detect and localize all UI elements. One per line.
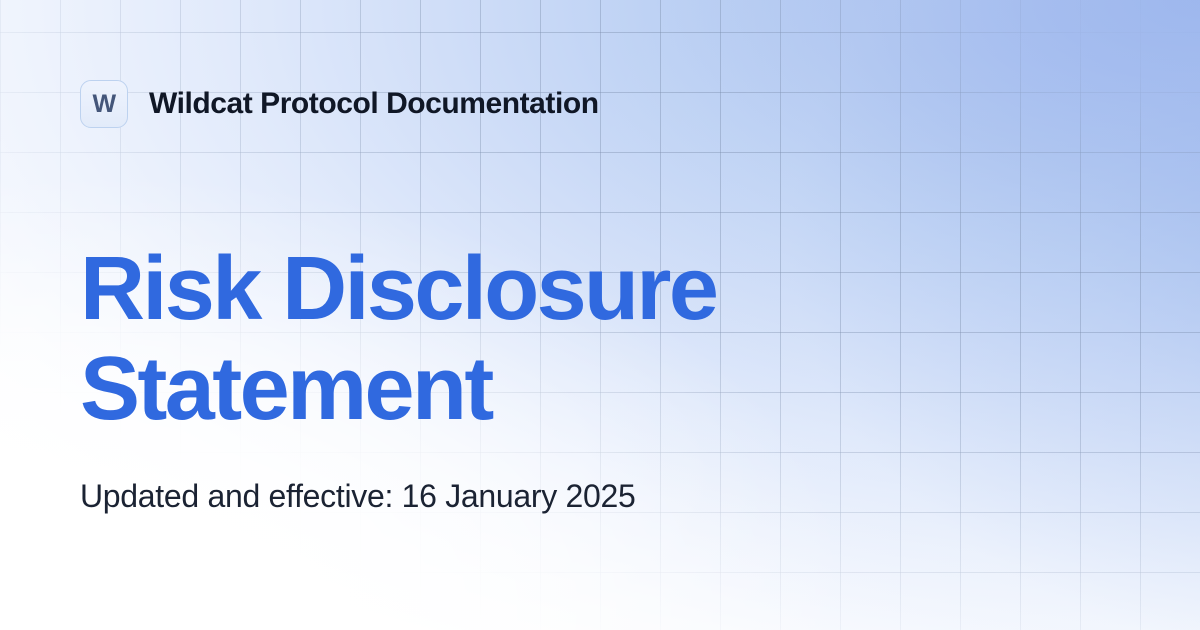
- card-content: W Wildcat Protocol Documentation Risk Di…: [0, 0, 1200, 630]
- brand-header: W Wildcat Protocol Documentation: [80, 80, 1120, 128]
- headline-block: Risk Disclosure Statement Updated and ef…: [80, 239, 1120, 515]
- page-title: Risk Disclosure Statement: [80, 239, 840, 439]
- effective-date-text: Updated and effective: 16 January 2025: [80, 477, 1120, 515]
- og-card: W Wildcat Protocol Documentation Risk Di…: [0, 0, 1200, 630]
- wildcat-logo-icon: W: [80, 80, 128, 128]
- brand-title: Wildcat Protocol Documentation: [149, 87, 599, 121]
